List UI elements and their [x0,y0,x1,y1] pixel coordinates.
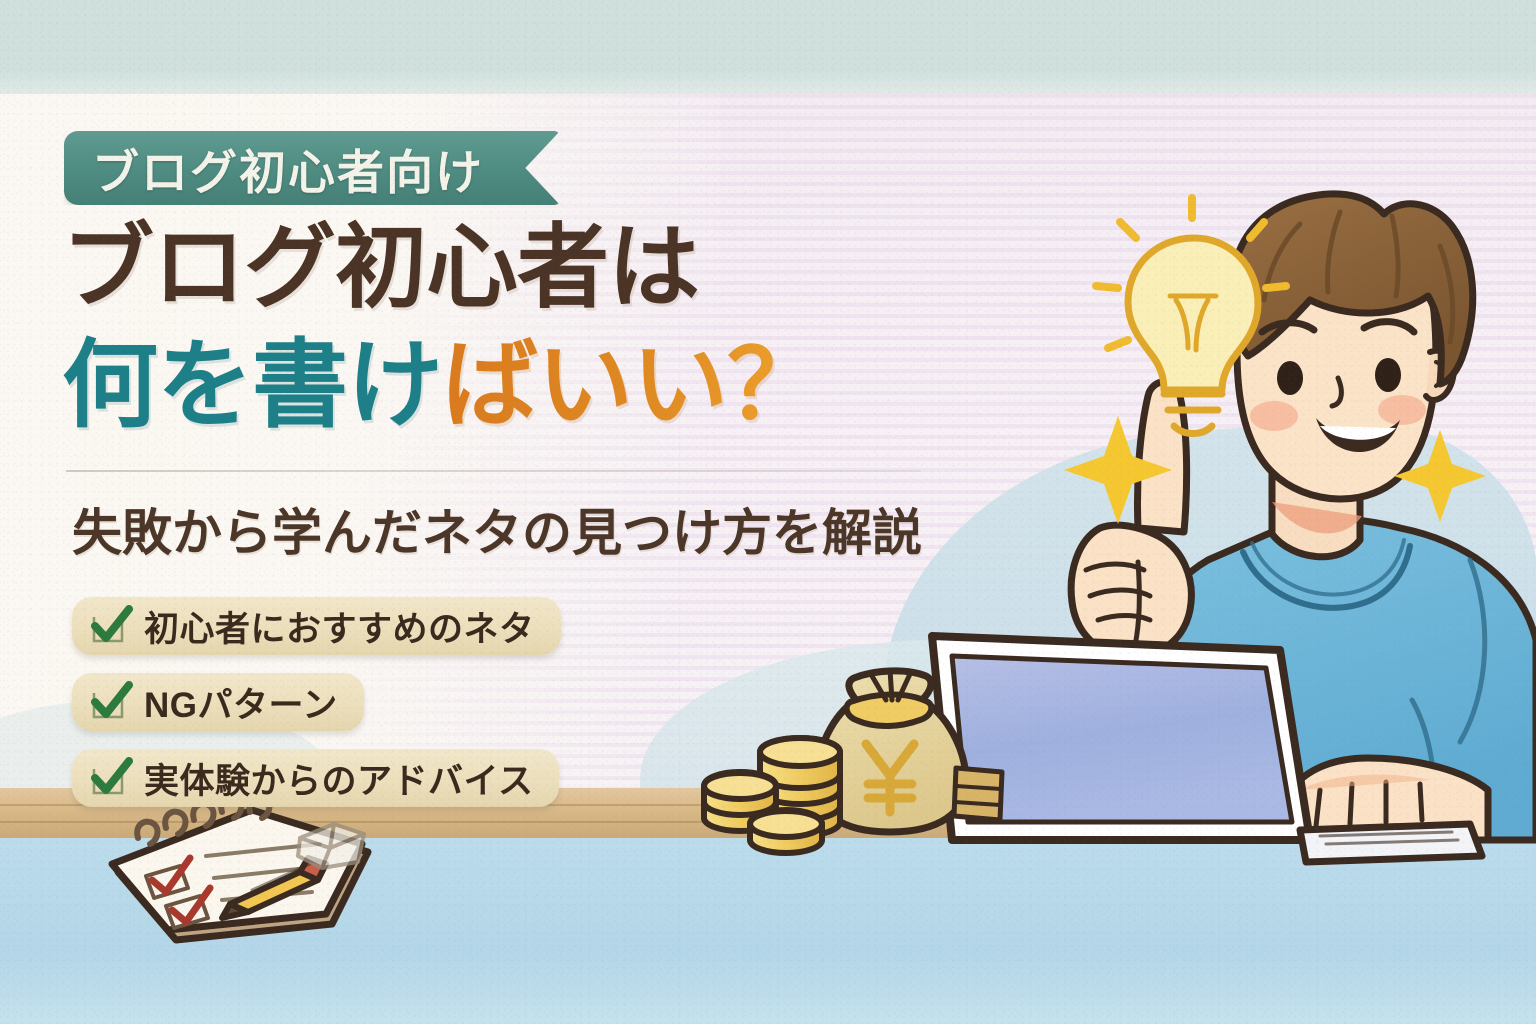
page-title-line1: ブログ初心者は [62,222,699,314]
checklist-item-2: NGパターン [72,673,364,731]
check-icon [88,757,134,799]
page-title-line2-orange: ばいい？ [442,332,822,439]
floor-area [0,838,1536,1024]
checklist-item-2-label: NGパターン [144,677,338,728]
checklist-item-1-label: 初心者におすすめのネタ [144,601,535,652]
checklist-item-3-label: 実体験からのアドバイス [144,753,533,804]
checklist-item-3: 実体験からのアドバイス [72,749,559,807]
checklist-item-1: 初心者におすすめのネタ [72,597,561,655]
banner-canvas: ブログ初心者向け ブログ初心者は 何を書けばいい？ 失敗から学んだネタの見つけ方… [0,0,1536,1024]
page-subtitle: 失敗から学んだネタの見つけ方を解説 [72,493,922,565]
title-divider [66,470,921,472]
page-title-line2: 何を書けばいい？ [62,338,822,434]
check-icon [88,605,134,647]
badge-label: ブログ初心者向け [92,131,484,205]
check-icon [88,681,134,723]
page-title-line2-teal: 何を書け [62,332,442,439]
background-top-band [0,0,1536,96]
